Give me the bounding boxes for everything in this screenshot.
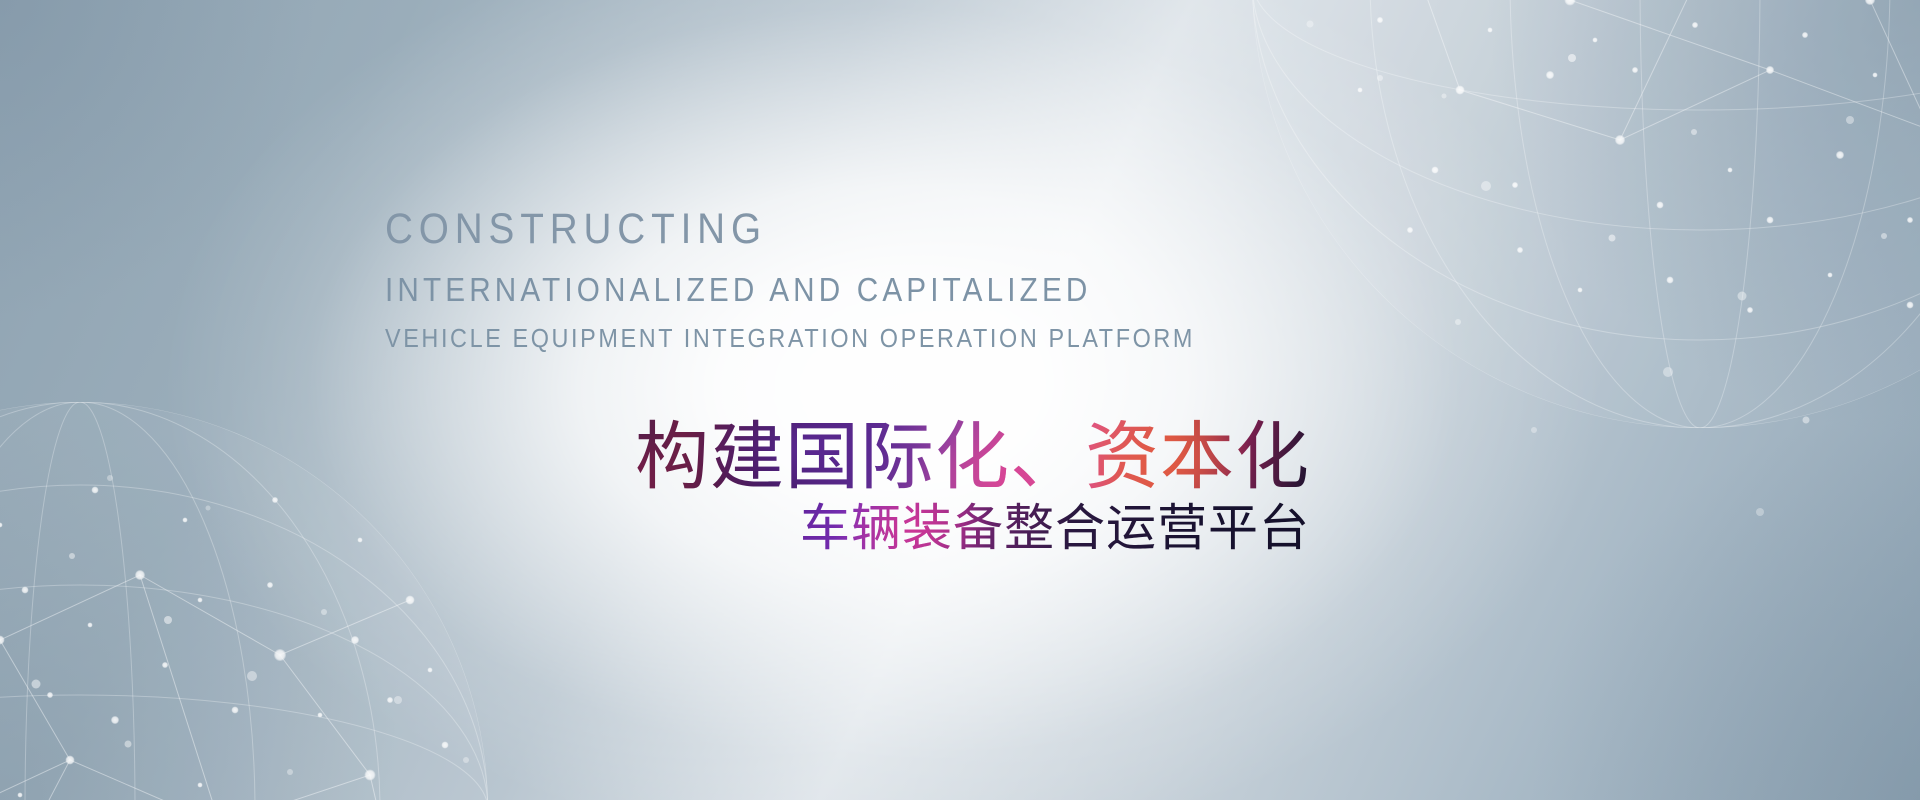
chinese-copy-block: 构建国际化、资本化 车辆装备整合运营平台: [385, 418, 1310, 555]
chinese-headline: 构建国际化、资本化: [385, 418, 1310, 496]
headline-line-vehicle-platform: VEHICLE EQUIPMENT INTEGRATION OPERATION …: [385, 325, 1218, 351]
hero-banner: CONSTRUCTING INTERNATIONALIZED AND CAPIT…: [0, 0, 1920, 800]
chinese-subtitle: 车辆装备整合运营平台: [385, 502, 1310, 555]
headline-line-constructing: CONSTRUCTING: [385, 208, 1218, 251]
floating-particles: [0, 0, 1920, 800]
headline-line-internationalized: INTERNATIONALIZED AND CAPITALIZED: [385, 273, 1218, 306]
english-copy-block: CONSTRUCTING INTERNATIONALIZED AND CAPIT…: [385, 208, 1310, 351]
